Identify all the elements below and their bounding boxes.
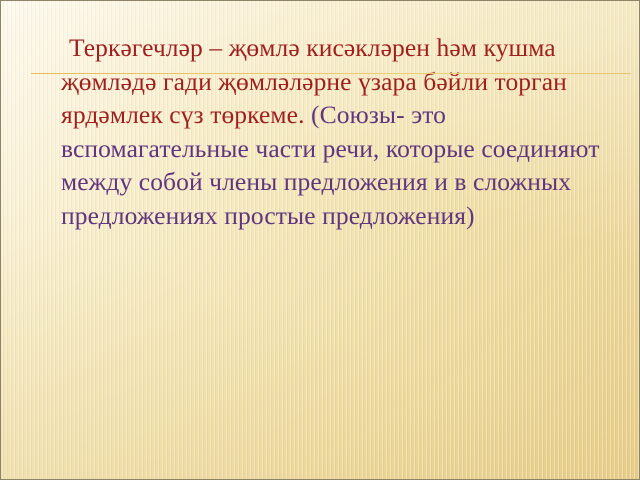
presentation-slide: Теркәгечләр – җөмлә кисәкләрен һәм кушма… <box>0 0 640 480</box>
title-divider-line <box>31 73 631 74</box>
slide-title-text: Теркәгечләр – җөмлә кисәкләрен һәм кушма… <box>31 31 616 232</box>
